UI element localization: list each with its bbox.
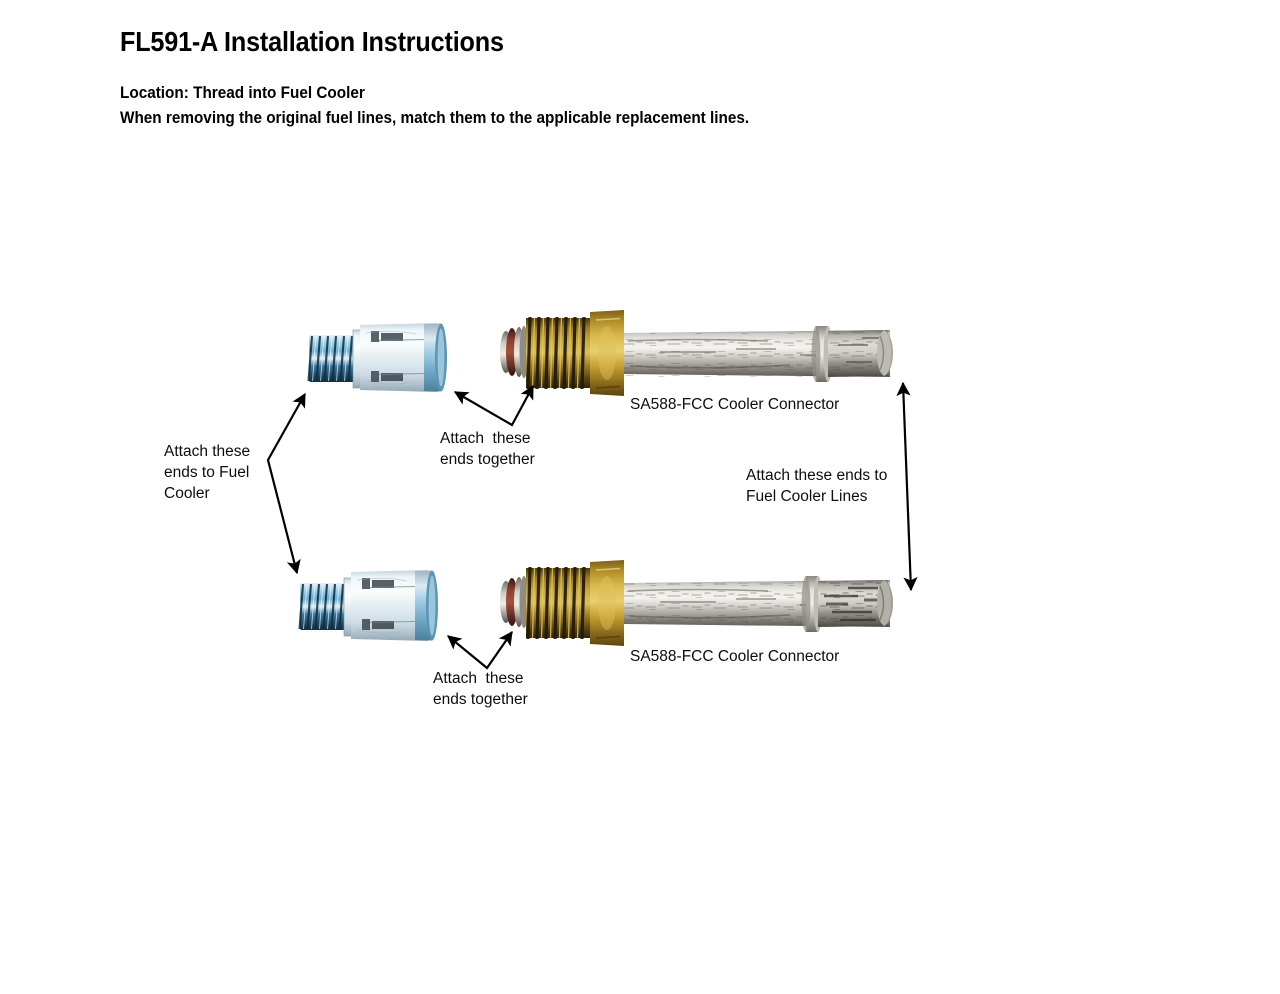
annotation-attach-together-lower: Attach these ends together: [433, 668, 528, 710]
annotation-attach-together-upper: Attach these ends together: [440, 428, 535, 470]
matching-instruction-line: When removing the original fuel lines, m…: [120, 108, 749, 128]
upper-adapter-fitting: [309, 323, 448, 392]
lower-adapter-fitting: [300, 570, 439, 641]
arrow-attach-together-lower: [448, 632, 512, 668]
lower-cooler-connector: [500, 560, 893, 646]
page-title: FL591-A Installation Instructions: [120, 26, 504, 58]
upper-assembly: SA588-FCC Cooler Connector: [309, 310, 894, 413]
lower-connector-label: SA588-FCC Cooler Connector: [630, 648, 839, 665]
location-line: Location: Thread into Fuel Cooler: [120, 83, 365, 103]
annotation-attach-to-cooler-lines: Attach these ends to Fuel Cooler Lines: [746, 465, 887, 507]
upper-cooler-connector: [500, 310, 893, 396]
arrow-fuel-cooler-ends: [268, 394, 305, 573]
arrow-fuel-cooler-lines: [903, 383, 911, 590]
upper-connector-label: SA588-FCC Cooler Connector: [630, 396, 839, 413]
lower-assembly: SA588-FCC Cooler Connector: [300, 560, 894, 665]
instruction-page: FL591-A Installation Instructions Locati…: [0, 0, 1280, 989]
annotation-attach-to-fuel-cooler: Attach these ends to Fuel Cooler: [164, 441, 250, 504]
arrow-attach-together-upper: [455, 386, 533, 425]
